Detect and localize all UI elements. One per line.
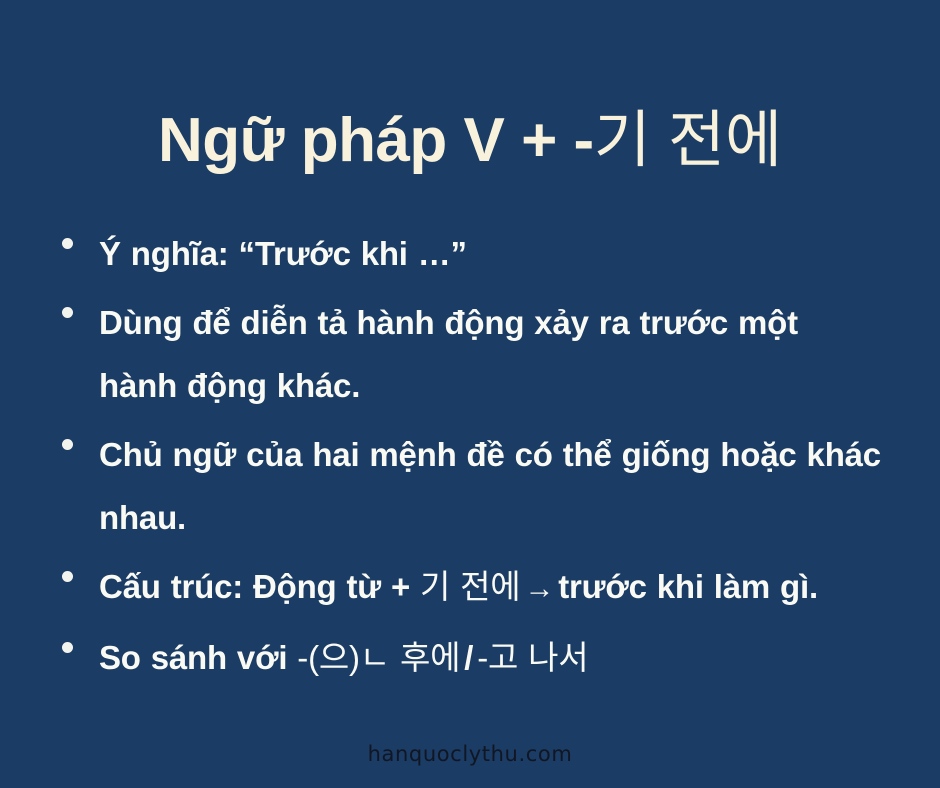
bullet-dot-icon bbox=[62, 439, 73, 450]
title-korean-part: 기 전에 bbox=[594, 106, 782, 175]
structure-prefix: Cấu trúc: Động từ + bbox=[99, 568, 420, 605]
bullet-text-subject-rule: Chủ ngữ của hai mệnh đề có thể giống hoặ… bbox=[99, 423, 882, 549]
structure-suffix: trước khi làm gì. bbox=[558, 568, 818, 605]
list-item: Cấu trúc: Động từ + 기 전에→trước khi làm g… bbox=[62, 555, 882, 620]
structure-korean: 기 전에 bbox=[420, 568, 520, 605]
comparison-prefix: So sánh với bbox=[99, 639, 297, 676]
title-vietnamese-part: Ngữ pháp V + - bbox=[158, 106, 594, 175]
bullet-text-meaning: Ý nghĩa: “Trước khi …” bbox=[99, 222, 882, 285]
bullet-dot-icon bbox=[62, 642, 73, 653]
footer-website: hanquoclythu.com bbox=[0, 742, 940, 766]
list-item: Chủ ngữ của hai mệnh đề có thể giống hoặ… bbox=[62, 423, 882, 549]
bullet-dot-icon bbox=[62, 571, 73, 582]
bullet-text-comparison: So sánh với -(으)ㄴ 후에/-고 나서 bbox=[99, 626, 882, 689]
bullet-dot-icon bbox=[62, 238, 73, 249]
bullet-text-structure: Cấu trúc: Động từ + 기 전에→trước khi làm g… bbox=[99, 555, 882, 620]
comparison-korean-a: -(으)ㄴ 후에 bbox=[297, 639, 460, 676]
bullet-list: Ý nghĩa: “Trước khi …” Dùng để diễn tả h… bbox=[62, 222, 882, 695]
comparison-separator: / bbox=[460, 639, 477, 676]
slide-canvas: Ngữ pháp V + -기 전에 Ý nghĩa: “Trước khi …… bbox=[0, 0, 940, 788]
bullet-dot-icon bbox=[62, 307, 73, 318]
list-item: Ý nghĩa: “Trước khi …” bbox=[62, 222, 882, 285]
list-item: So sánh với -(으)ㄴ 후에/-고 나서 bbox=[62, 626, 882, 689]
list-item: Dùng để diễn tả hành động xảy ra trước m… bbox=[62, 291, 882, 417]
bullet-text-usage: Dùng để diễn tả hành động xảy ra trước m… bbox=[99, 291, 882, 417]
page-title: Ngữ pháp V + -기 전에 bbox=[158, 108, 782, 173]
arrow-icon: → bbox=[520, 572, 558, 605]
comparison-korean-b: -고 나서 bbox=[477, 639, 588, 676]
title-container: Ngữ pháp V + -기 전에 bbox=[0, 66, 940, 214]
